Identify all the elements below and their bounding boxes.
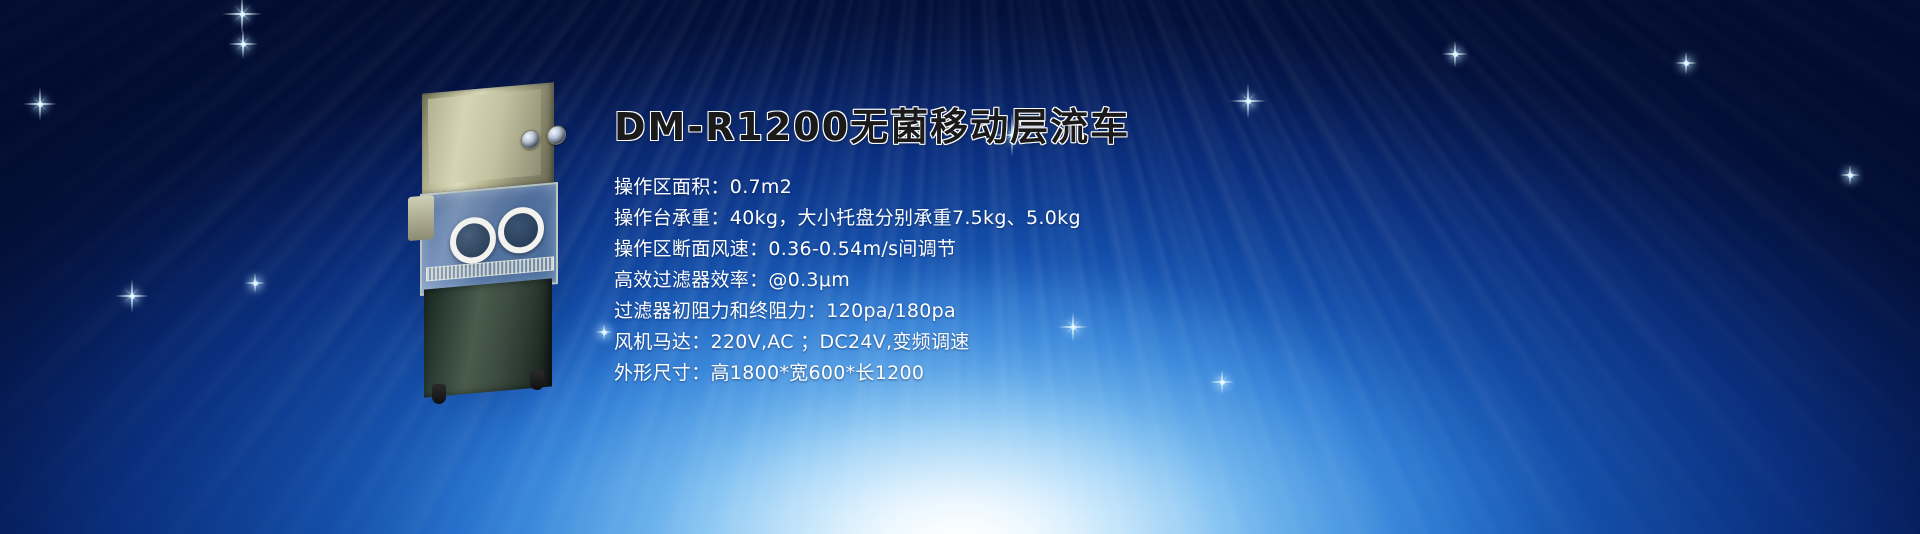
pressure-gauge-icon	[521, 129, 540, 150]
spec-line: 操作台承重：40kg，大小托盘分别承重7.5kg、5.0kg	[614, 203, 1614, 234]
spec-line: 高效过滤器效率：@0.3μm	[614, 265, 1614, 296]
product-top-face	[428, 89, 541, 185]
glove-port-icon	[450, 215, 496, 265]
product-title: DM-R1200无菌移动层流车	[614, 108, 1614, 146]
glove-port-icon	[498, 205, 544, 255]
product-caster	[432, 384, 446, 404]
spec-list: 操作区面积：0.7m2操作台承重：40kg，大小托盘分别承重7.5kg、5.0k…	[614, 172, 1614, 389]
product-banner: DM-R1200无菌移动层流车 操作区面积：0.7m2操作台承重：40kg，大小…	[0, 0, 1920, 534]
spec-line: 风机马达：220V,AC ；DC24V,变频调速	[614, 327, 1614, 358]
spec-line: 外形尺寸：高1800*宽600*长1200	[614, 358, 1614, 389]
spec-line: 操作区断面风速：0.36-0.54m/s间调节	[614, 234, 1614, 265]
copy-block: DM-R1200无菌移动层流车 操作区面积：0.7m2操作台承重：40kg，大小…	[614, 108, 1614, 389]
product-caster	[530, 370, 544, 390]
product-image-laminar-flow-trolley	[408, 88, 568, 408]
spec-line: 操作区面积：0.7m2	[614, 172, 1614, 203]
product-side-handle	[408, 195, 434, 241]
spec-line: 过滤器初阻力和终阻力：120pa/180pa	[614, 296, 1614, 327]
product-perforated-tray	[426, 256, 554, 281]
